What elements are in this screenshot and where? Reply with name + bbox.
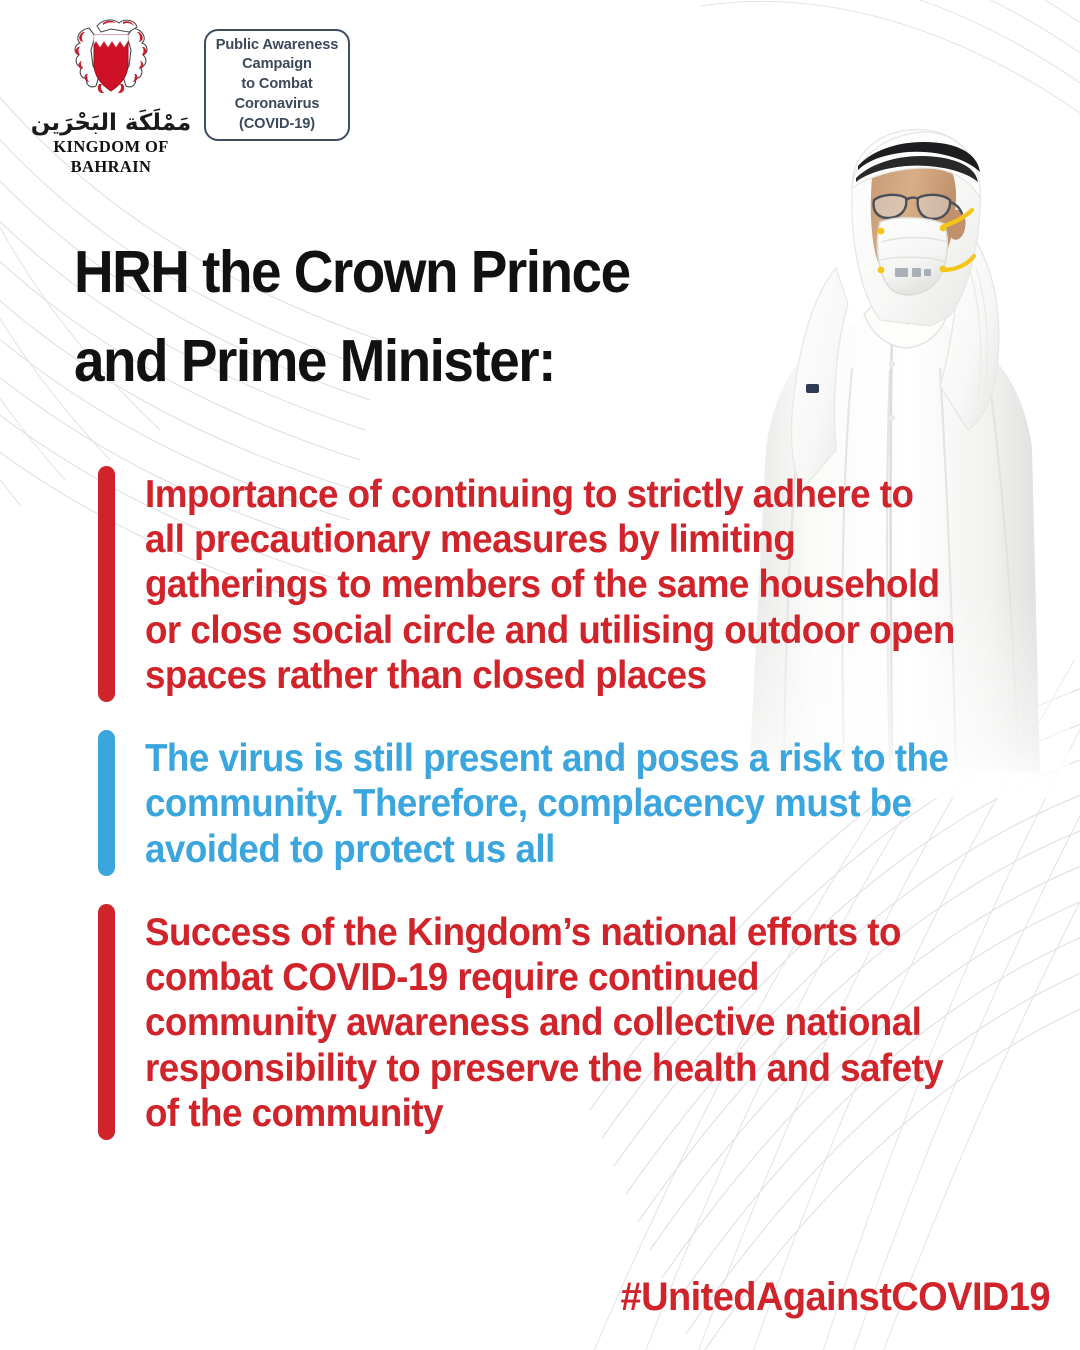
page-title: HRH the Crown Prince and Prime Minister: — [74, 228, 725, 405]
poster-canvas: مَمْلَكَة البَحْرَين KINGDOM OF BAHRAIN … — [0, 0, 1080, 1350]
kingdom-of-bahrain-logo: مَمْلَكَة البَحْرَين KINGDOM OF BAHRAIN — [26, 14, 196, 177]
statement-item: The virus is still present and poses a r… — [98, 730, 998, 876]
statement-text: Importance of continuing to strictly adh… — [145, 466, 960, 702]
campaign-badge: Public Awareness Campaign to Combat Coro… — [204, 29, 350, 141]
campaign-hashtag: #UnitedAgainstCOVID19 — [621, 1275, 1050, 1320]
poster-header: مَمْلَكَة البَحْرَين KINGDOM OF BAHRAIN … — [0, 0, 1080, 165]
statement-text: Success of the Kingdom’s national effort… — [145, 904, 960, 1140]
statement-accent-bar — [98, 904, 115, 1140]
statement-item: Success of the Kingdom’s national effort… — [98, 904, 998, 1140]
bahrain-coat-of-arms-icon — [69, 14, 153, 106]
statement-list: Importance of continuing to strictly adh… — [98, 466, 998, 1168]
statement-accent-bar — [98, 730, 115, 876]
statement-accent-bar — [98, 466, 115, 702]
statement-item: Importance of continuing to strictly adh… — [98, 466, 998, 702]
campaign-badge-text: Public Awareness Campaign to Combat Coro… — [216, 36, 339, 134]
kingdom-name-latin: KINGDOM OF BAHRAIN — [26, 137, 196, 177]
statement-text: The virus is still present and poses a r… — [145, 730, 960, 876]
kingdom-name-arabic: مَمْلَكَة البَحْرَين — [26, 110, 196, 136]
